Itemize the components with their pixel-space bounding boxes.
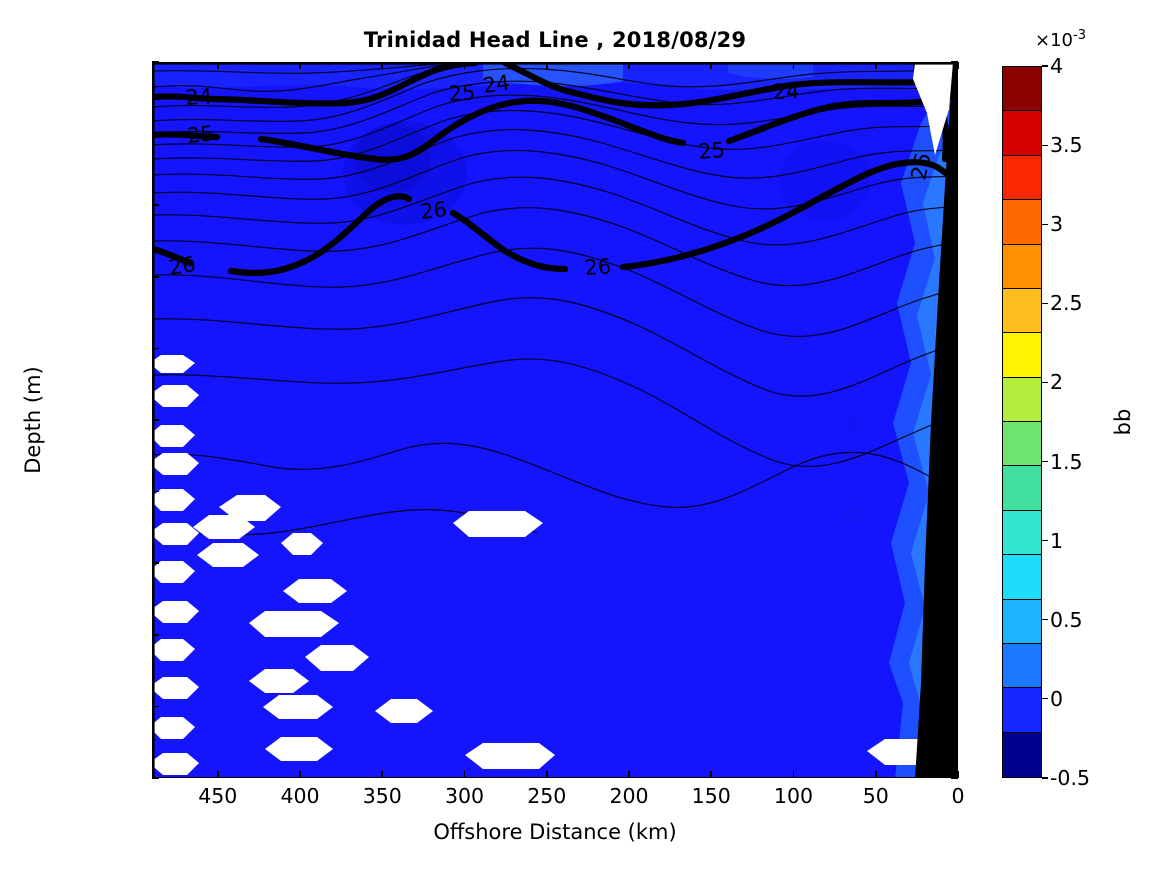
plot-area: 24 25 25 24 25 24 26 26 26 26 xyxy=(153,63,957,777)
x-tick-label-0: 0 xyxy=(913,786,1003,807)
x-tick-mark-150 xyxy=(710,771,712,778)
colorbar-band-4 xyxy=(1003,245,1041,289)
y-tick-mark-right-300 xyxy=(951,491,958,493)
colorbar-tick-mark xyxy=(1042,224,1048,225)
y-tick-mark-right-250 xyxy=(951,419,958,421)
y-tick-mark-400 xyxy=(152,634,159,636)
x-tick-mark-top-350 xyxy=(381,62,383,69)
svg-text:25: 25 xyxy=(448,81,476,106)
x-tick-mark-300 xyxy=(464,771,466,778)
x-tick-mark-0 xyxy=(957,771,959,778)
x-tick-mark-top-450 xyxy=(217,62,219,69)
colorbar-exponent-power: -3 xyxy=(1073,28,1086,43)
colorbar-band-15 xyxy=(1003,733,1041,777)
colorbar-exponent-prefix: × xyxy=(1035,30,1050,51)
y-tick-mark-200 xyxy=(152,348,159,350)
colorbar-band-9 xyxy=(1003,466,1041,510)
colorbar-tick-mark xyxy=(1042,461,1048,462)
y-tick-mark-350 xyxy=(152,562,159,564)
x-tick-label-50: 50 xyxy=(831,786,921,807)
y-tick-mark-500 xyxy=(152,777,159,779)
y-tick-mark-right-350 xyxy=(951,562,958,564)
colorbar-tick-mark xyxy=(1042,619,1048,620)
y-tick-mark-450 xyxy=(152,706,159,708)
y-tick-mark-250 xyxy=(152,419,159,421)
colorbar-label-text: bb xyxy=(1111,409,1135,436)
y-tick-mark-right-50 xyxy=(951,133,958,135)
x-tick-label-450: 450 xyxy=(173,786,263,807)
svg-text:25: 25 xyxy=(186,121,215,148)
x-tick-mark-top-200 xyxy=(628,62,630,69)
contour-plot-svg: 24 25 25 24 25 24 26 26 26 26 xyxy=(153,63,957,777)
y-tick-mark-300 xyxy=(152,491,159,493)
colorbar-band-11 xyxy=(1003,555,1041,599)
x-tick-mark-450 xyxy=(217,771,219,778)
colorbar-label: bb xyxy=(1108,66,1138,778)
plot-axes[interactable]: 24 25 25 24 25 24 26 26 26 26 xyxy=(152,62,958,778)
x-tick-label-100: 100 xyxy=(749,786,839,807)
colorbar-band-13 xyxy=(1003,644,1041,688)
colorbar-tick-mark xyxy=(1042,145,1048,146)
x-tick-mark-top-50 xyxy=(875,62,877,69)
x-tick-mark-top-150 xyxy=(710,62,712,69)
x-tick-mark-350 xyxy=(381,771,383,778)
colorbar-tick-mark xyxy=(1042,698,1048,699)
svg-text:24: 24 xyxy=(772,79,800,104)
y-tick-mark-right-400 xyxy=(951,634,958,636)
svg-text:26: 26 xyxy=(419,197,448,224)
figure-canvas: Trinidad Head Line , 2018/08/29 xyxy=(0,0,1167,875)
svg-text:24: 24 xyxy=(481,70,511,97)
colorbar-band-1 xyxy=(1003,111,1041,155)
x-tick-mark-250 xyxy=(546,771,548,778)
colorbar-band-8 xyxy=(1003,422,1041,466)
y-tick-mark-150 xyxy=(152,276,159,278)
y-tick-mark-50 xyxy=(152,133,159,135)
svg-text:26: 26 xyxy=(584,254,612,280)
colorbar-band-5 xyxy=(1003,289,1041,333)
colorbar-band-14 xyxy=(1003,688,1041,732)
colorbar-tick-mark xyxy=(1042,540,1048,541)
y-tick-mark-0 xyxy=(152,61,159,63)
y-tick-mark-right-100 xyxy=(951,204,958,206)
colorbar-exponent: ×10-3 xyxy=(1035,28,1086,51)
x-axis-label: Offshore Distance (km) xyxy=(152,820,958,844)
colorbar-band-3 xyxy=(1003,200,1041,244)
x-tick-label-300: 300 xyxy=(420,786,510,807)
x-tick-mark-50 xyxy=(875,771,877,778)
x-tick-label-250: 250 xyxy=(502,786,592,807)
x-tick-mark-top-400 xyxy=(299,62,301,69)
colorbar[interactable] xyxy=(1002,66,1042,778)
colorbar-band-6 xyxy=(1003,333,1041,377)
colorbar-band-2 xyxy=(1003,156,1041,200)
x-tick-label-400: 400 xyxy=(255,786,345,807)
x-tick-mark-top-300 xyxy=(464,62,466,69)
colorbar-tick-mark xyxy=(1042,303,1048,304)
colorbar-band-10 xyxy=(1003,511,1041,555)
colorbar-tick-mark xyxy=(1042,777,1048,778)
y-tick-mark-right-150 xyxy=(951,276,958,278)
x-tick-label-150: 150 xyxy=(666,786,756,807)
x-tick-mark-top-0 xyxy=(957,62,959,69)
colorbar-band-7 xyxy=(1003,378,1041,422)
x-tick-mark-top-100 xyxy=(793,62,795,69)
y-axis-label: Depth (m) xyxy=(18,62,48,778)
x-tick-mark-400 xyxy=(299,771,301,778)
x-tick-mark-200 xyxy=(628,771,630,778)
svg-text:24: 24 xyxy=(185,84,213,110)
y-tick-mark-right-450 xyxy=(951,706,958,708)
colorbar-tick-mark xyxy=(1042,65,1048,66)
x-tick-mark-100 xyxy=(793,771,795,778)
page-title: Trinidad Head Line , 2018/08/29 xyxy=(152,28,958,52)
colorbar-tick-mark xyxy=(1042,382,1048,383)
x-tick-mark-top-250 xyxy=(546,62,548,69)
svg-text:26: 26 xyxy=(167,252,197,280)
x-tick-label-350: 350 xyxy=(337,786,427,807)
y-tick-mark-right-200 xyxy=(951,348,958,350)
x-tick-label-200: 200 xyxy=(584,786,674,807)
colorbar-band-0 xyxy=(1003,67,1041,111)
y-tick-mark-100 xyxy=(152,204,159,206)
svg-text:25: 25 xyxy=(697,138,726,164)
colorbar-band-12 xyxy=(1003,600,1041,644)
colorbar-exponent-base: 10 xyxy=(1050,30,1073,51)
y-axis-label-text: Depth (m) xyxy=(21,366,45,473)
